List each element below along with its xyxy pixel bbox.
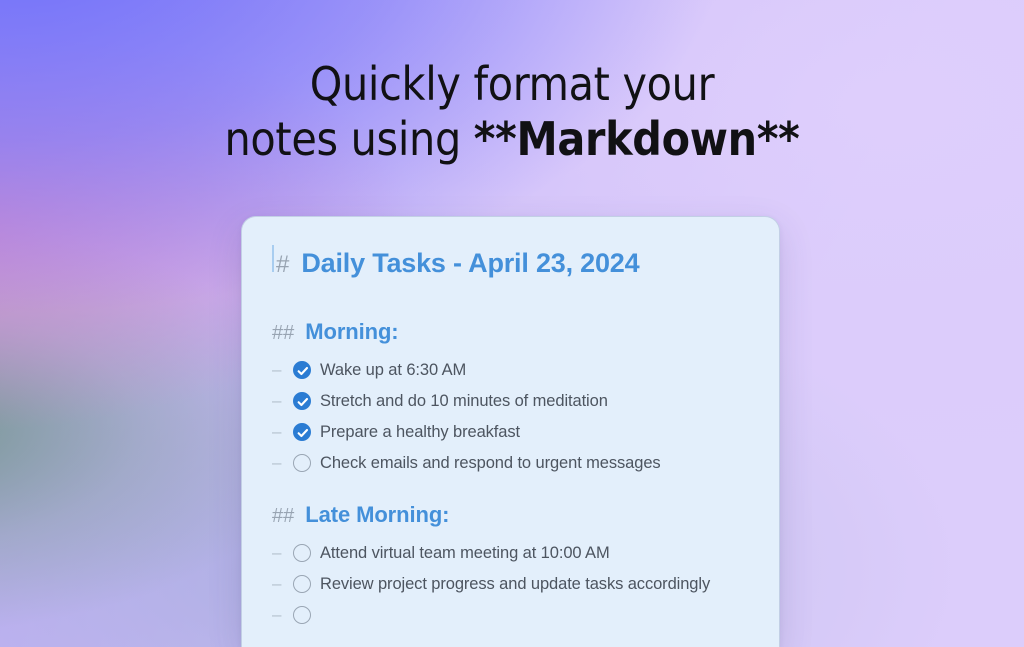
section-late-morning: ## Late Morning: – Attend virtual team m… — [272, 502, 749, 626]
task-row[interactable]: – Review project progress and update tas… — [272, 573, 749, 595]
note-title-row[interactable]: # Daily Tasks - April 23, 2024 — [272, 245, 749, 279]
section-heading: Late Morning: — [305, 502, 449, 528]
task-checkbox-unchecked[interactable] — [293, 606, 311, 624]
page-headline: Quickly format your notes using **Markdo… — [0, 57, 1024, 167]
check-icon — [296, 426, 310, 440]
task-checkbox-unchecked[interactable] — [293, 544, 311, 562]
headline-markdown-emphasis: **Markdown** — [474, 112, 800, 166]
task-row[interactable]: – Attend virtual team meeting at 10:00 A… — [272, 542, 749, 564]
task-label: Check emails and respond to urgent messa… — [320, 452, 661, 474]
list-bullet-dash: – — [272, 573, 286, 595]
task-label: Wake up at 6:30 AM — [320, 359, 466, 381]
section-morning: ## Morning: – Wake up at 6:30 AM – Stret… — [272, 319, 749, 474]
section-heading: Morning: — [305, 319, 398, 345]
text-caret — [272, 245, 274, 272]
task-row[interactable]: – Wake up at 6:30 AM — [272, 359, 749, 381]
task-row[interactable]: – — [272, 604, 749, 626]
task-label: Review project progress and update tasks… — [320, 573, 710, 595]
task-checkbox-checked[interactable] — [293, 361, 311, 379]
heading-2-marker: ## — [272, 505, 294, 528]
list-bullet-dash: – — [272, 421, 286, 443]
task-label: Prepare a healthy breakfast — [320, 421, 520, 443]
task-label: Attend virtual team meeting at 10:00 AM — [320, 542, 610, 564]
list-bullet-dash: – — [272, 604, 286, 626]
task-label: Stretch and do 10 minutes of meditation — [320, 390, 608, 412]
heading-1-marker: # — [276, 251, 289, 279]
check-icon — [296, 364, 310, 378]
task-checkbox-checked[interactable] — [293, 423, 311, 441]
headline-line-2: notes using **Markdown** — [0, 112, 1024, 167]
task-checkbox-unchecked[interactable] — [293, 575, 311, 593]
task-checkbox-checked[interactable] — [293, 392, 311, 410]
section-heading-row[interactable]: ## Morning: — [272, 319, 749, 345]
list-bullet-dash: – — [272, 452, 286, 474]
list-bullet-dash: – — [272, 359, 286, 381]
headline-line-2-prefix: notes using — [224, 112, 473, 166]
heading-2-marker: ## — [272, 322, 294, 345]
note-title: Daily Tasks - April 23, 2024 — [301, 248, 639, 279]
task-row[interactable]: – Prepare a healthy breakfast — [272, 421, 749, 443]
task-row[interactable]: – Stretch and do 10 minutes of meditatio… — [272, 390, 749, 412]
markdown-note-card[interactable]: # Daily Tasks - April 23, 2024 ## Mornin… — [241, 216, 780, 647]
section-heading-row[interactable]: ## Late Morning: — [272, 502, 749, 528]
task-row[interactable]: – Check emails and respond to urgent mes… — [272, 452, 749, 474]
headline-line-1: Quickly format your — [0, 57, 1024, 112]
task-checkbox-unchecked[interactable] — [293, 454, 311, 472]
list-bullet-dash: – — [272, 390, 286, 412]
check-icon — [296, 395, 310, 409]
list-bullet-dash: – — [272, 542, 286, 564]
